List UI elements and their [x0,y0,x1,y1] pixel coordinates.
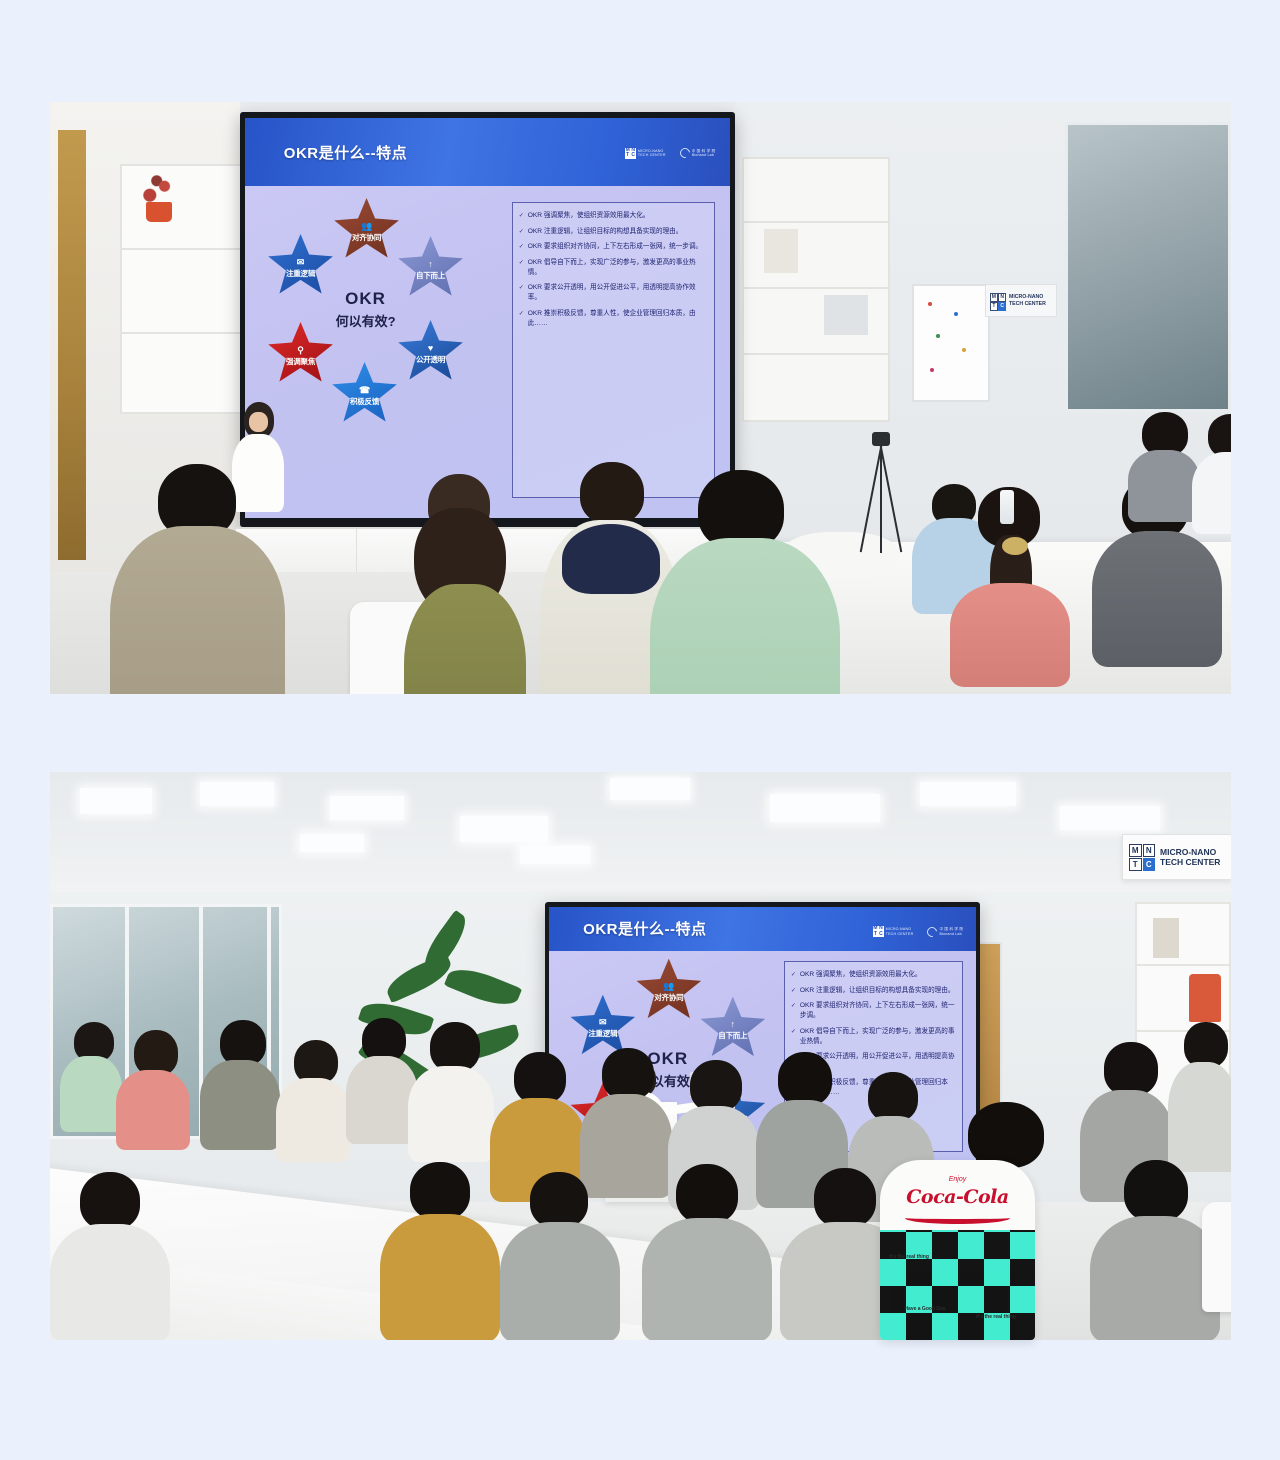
wall-sign-line1: MICRO-NANO [1160,847,1220,858]
photo-okr-session-wide: OKR是什么--特点 M N T C MICRO-NANO [50,772,1231,1340]
display-screen: OKR是什么--特点 M N T C MICRO-NANO [245,118,730,518]
wall-sign-line1: MICRO-NANO [1009,294,1046,300]
upload-icon: ↑ [731,1020,736,1029]
bullet-item: ✓ OKR 要求组织对齐协同，上下左右形成一张网，统一步调。 [791,1001,956,1021]
envelope-icon: ✉ [297,258,305,267]
attendee-front-2 [380,1162,500,1340]
bullet-item: ✓ OKR 倡导自下而上，实现广泛的参与，激发更高的事业热情。 [791,1027,956,1047]
slide-header: OKR是什么--特点 M N T C MICRO-NANO [549,907,976,951]
window [1065,122,1231,412]
check-icon: ✓ [519,283,524,303]
wall-sign-micro-nano-tech-center: M N T C MICRO-NANO TECH CENTER [1122,834,1231,880]
bullet-item: ✓ OKR 倡导自下而上，实现广泛的参与，激发更高的事业热情。 [519,258,709,278]
jacket-enjoy-text: Enjoy [880,1176,1035,1183]
star-open-label: 公开透明 [416,354,445,365]
check-icon: ✓ [791,1001,796,1021]
bullet-text: OKR 要求组织对齐协同，上下左右形成一张网，统一步调。 [800,1001,956,1021]
jacket-tag-2: Have a Good Day [900,1306,950,1312]
attendee-row-3 [200,1020,280,1150]
bullet-text: OKR 推崇积极反馈，尊重人性，使企业管理回归本质，由此…… [528,309,709,329]
check-icon: ✓ [519,211,524,221]
cocacola-jacket: Enjoy Coca-Cola it's the real thing Have… [880,1160,1035,1340]
check-icon: ✓ [519,227,524,237]
attendee-front-1 [50,1172,170,1340]
jacket-brand-text: Coca-Cola [880,1186,1035,1208]
bullet-text: OKR 注重逻辑，让组织目标的构想具备实现的理由。 [528,227,683,237]
logo-letter-c: C [1143,858,1156,871]
star-bottomup-label: 自下而上 [718,1030,747,1041]
attendee-row-2 [116,1030,190,1150]
attendee-row-4 [276,1040,350,1162]
heart-icon: ♥ [428,344,433,353]
jacket-tag-1: it's the real thing [886,1254,932,1260]
attendee-white-shirt [1192,414,1231,534]
slide-title: OKR是什么--特点 [583,918,706,939]
bullet-text: OKR 要求公开透明，用公开促进公平，用透明提高协作效率。 [528,283,709,303]
slide-logo-mntc-icon: M N T C MICRO-NANO TECH CENTER [625,148,666,159]
attendee-beige-sweater [110,464,285,694]
attendee-mint-shirt [650,470,840,694]
slide-logo-letter-c: C [878,932,884,938]
jacket-swoosh [905,1212,1010,1224]
bullet-text: OKR 注重逻辑，让组织目标的构想具备实现的理由。 [800,986,955,996]
star-logic-label: 注重逻辑 [588,1028,617,1039]
logo-letter-c: C [998,302,1006,311]
attendee-green-dress [398,474,528,694]
slide-logo-partner-icon: 中 国 科 学 院 Bionand Lab [927,927,963,937]
star-logic-label: 注重逻辑 [286,268,315,279]
logo-letter-m: M [1129,844,1142,857]
right-shelving-unit [742,157,890,422]
wall-sign-text: MICRO-NANO TECH CENTER [1009,294,1046,307]
star-align-label: 对齐协同 [654,992,683,1003]
check-icon: ✓ [791,1027,796,1047]
bullet-item: ✓ OKR 强调聚焦，使组织资源效用最大化。 [519,211,709,221]
slide-bullet-box: ✓ OKR 强调聚焦，使组织资源效用最大化。 ✓ OKR 注重逻辑，让组织目标的… [512,202,716,498]
attendee-masked-back [1128,412,1200,522]
jacket-tag-3: it's the real thing [973,1314,1019,1320]
search-icon: ⚲ [297,346,304,355]
bullet-item: ✓ OKR 推崇积极反馈，尊重人性，使企业管理回归本质，由此…… [519,309,709,329]
jacket-checker-pattern [880,1230,1035,1340]
water-bottle [1000,490,1014,524]
logo-letter-n: N [1143,844,1156,857]
slide-header: OKR是什么--特点 M N T C MICRO-NANO [245,118,730,186]
camera-tripod [862,432,902,552]
check-icon: ✓ [791,986,796,996]
wall-sign-micro-nano-tech-center: M N T C MICRO-NANO TECH CENTER [985,284,1057,317]
attendee-row-6 [408,1022,494,1162]
bullet-text: OKR 强调聚焦，使组织资源效用最大化。 [528,211,650,221]
check-icon: ✓ [519,309,524,329]
slide-logo-partner-icon: 中 国 科 学 院 Bionand Lab [680,148,716,158]
bullet-text: OKR 倡导自下而上，实现广泛的参与，激发更高的事业热情。 [528,258,709,278]
slide-logo-line2: TECH CENTER [886,932,914,936]
bullet-text: OKR 要求组织对齐协同，上下左右形成一张网，统一步调。 [528,242,702,252]
wall-sign-line2: TECH CENTER [1009,301,1046,307]
star-feedback-label: 积极反馈 [350,396,379,407]
photo-okr-session-closeup: M N T C MICRO-NANO TECH CENTER OKR是什么--特… [50,102,1231,694]
room-scene-1: M N T C MICRO-NANO TECH CENTER OKR是什么--特… [50,102,1231,694]
logo-letter-m: M [990,293,998,302]
star-focus-label: 强调聚焦 [286,356,315,367]
ceiling [50,772,1231,902]
attendee-row-13 [1168,1022,1231,1172]
upload-icon: ↑ [428,260,433,269]
wood-column [58,130,86,560]
people-icon: 👥 [361,222,372,231]
people-icon: 👥 [663,982,674,991]
star-bottomup-label: 自下而上 [416,270,445,281]
bullet-item: ✓ OKR 注重逻辑，让组织目标的构想具备实现的理由。 [519,227,709,237]
okr-star-diagram: 👥 对齐协同 ✉ 注重逻辑 ↑ 自下而上 ⚲ [260,198,503,510]
chair [1202,1202,1231,1312]
star-align-label: 对齐协同 [352,232,381,243]
mntc-logo-icon: M N T C [1129,844,1155,870]
slide-logos: M N T C MICRO-NANO TECH CENTER [873,926,964,937]
star-align: 👥 对齐协同 [334,198,400,260]
slide-logo-line2: TECH CENTER [638,153,666,157]
center-line1: OKR [345,289,386,309]
room-scene-2: OKR是什么--特点 M N T C MICRO-NANO [50,772,1231,1340]
wall-sign-text: MICRO-NANO TECH CENTER [1160,847,1220,868]
mntc-logo-icon: M N T C [990,293,1006,309]
slide-logos: M N T C MICRO-NANO TECH CENTER [625,148,716,159]
star-feedback: ☎ 积极反馈 [332,362,398,424]
slide-logo-letter-c: C [630,153,636,159]
phone-icon: ☎ [359,386,370,395]
check-icon: ✓ [519,242,524,252]
bullet-text: OKR 倡导自下而上，实现广泛的参与，激发更高的事业热情。 [800,1027,956,1047]
wall-sign-line2: TECH CENTER [1160,857,1220,868]
attendee-front-3 [500,1172,620,1340]
logo-letter-n: N [998,293,1006,302]
check-icon: ✓ [519,258,524,278]
decor-plant-left [136,170,182,222]
slide-title: OKR是什么--特点 [284,142,407,163]
attendee-front-7 [1090,1160,1220,1340]
bullet-text: OKR 强调聚焦，使组织资源效用最大化。 [800,970,922,980]
check-icon: ✓ [791,970,796,980]
logo-letter-t: T [1129,858,1142,871]
star-center-label: OKR 何以有效? [318,274,414,344]
center-line2: 何以有效? [336,311,396,330]
envelope-icon: ✉ [599,1018,607,1027]
bullet-item: ✓ OKR 注重逻辑，让组织目标的构想具备实现的理由。 [791,986,956,996]
slide-logo-mntc-icon: M N T C MICRO-NANO TECH CENTER [873,926,914,937]
attendee-front-4 [642,1164,772,1340]
bullet-item: ✓ OKR 强调聚焦，使组织资源效用最大化。 [791,970,956,980]
partner-logo-line2: Bionand Lab [692,153,716,157]
partner-logo-line2: Bionand Lab [939,932,963,936]
presentation-slide: OKR是什么--特点 M N T C MICRO-NANO [245,118,730,518]
whiteboard [912,284,990,402]
attendee-row-1 [60,1022,122,1132]
bullet-item: ✓ OKR 要求组织对齐协同，上下左右形成一张网，统一步调。 [519,242,709,252]
bullet-item: ✓ OKR 要求公开透明，用公开促进公平，用透明提高协作效率。 [519,283,709,303]
star-align: 👥 对齐协同 [636,959,702,1021]
logo-letter-t: T [990,302,998,311]
